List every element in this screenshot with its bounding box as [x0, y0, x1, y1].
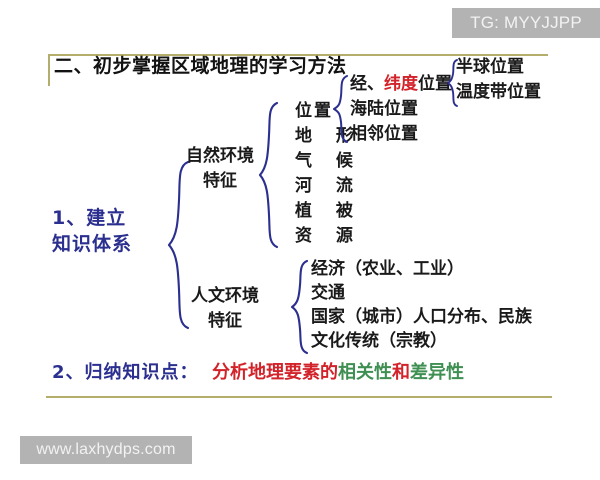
- summary-segment-1: 分析地理要素的: [212, 362, 338, 383]
- slide-canvas: 二、初步掌握区域地理的学习方法 1、建立 知识体系 自然环境 特征 位置 地 形…: [0, 0, 600, 480]
- summary-segment-4: 差异性: [410, 362, 464, 383]
- nature-label-line2: 特征: [203, 171, 237, 191]
- position-item-adjacent: 相邻位置: [350, 126, 418, 143]
- watermark-telegram: TG: MYYJJPP: [452, 8, 600, 38]
- human-item-economy: 经济（农业、工业）: [311, 261, 464, 278]
- summary-segment-3: 和: [392, 362, 410, 383]
- branch-2-label: 2、归纳知识点：: [52, 364, 199, 382]
- branch-1-label: 1、建立 知识体系: [52, 205, 132, 257]
- watermark-website: www.laxhydps.com: [20, 436, 192, 464]
- nature-item-vegetation: 植 被: [295, 203, 362, 220]
- hemisphere-item-temperature-zone: 温度带位置: [456, 84, 541, 101]
- nature-item-climate: 气 候: [295, 153, 362, 170]
- human-node-label: 人文环境 特征: [191, 284, 259, 334]
- nature-node-label: 自然环境 特征: [186, 144, 254, 194]
- position-item-prefix: 经、: [350, 74, 384, 94]
- position-brace: [332, 74, 350, 144]
- human-brace: [290, 259, 310, 356]
- human-label-line1: 人文环境: [191, 286, 259, 306]
- human-item-population: 国家（城市）人口分布、民族: [311, 309, 532, 326]
- summary-segment-2: 相关性: [338, 362, 392, 383]
- nature-brace: [258, 101, 280, 249]
- position-item-highlight: 纬度: [384, 74, 418, 94]
- branch-1-label-line1: 1、建立: [52, 207, 126, 229]
- branch-2-summary: 分析地理要素的相关性和差异性: [212, 364, 464, 382]
- nature-item-river: 河 流: [295, 178, 362, 195]
- nature-item-location: 位置: [295, 103, 333, 120]
- branch-1-label-line2: 知识体系: [52, 233, 132, 255]
- position-item-coordinates: 经、纬度位置: [350, 76, 452, 93]
- left-rule: [48, 54, 50, 86]
- nature-label-line1: 自然环境: [186, 146, 254, 166]
- bottom-rule: [46, 396, 552, 398]
- human-item-transport: 交通: [311, 285, 345, 302]
- nature-item-resource: 资 源: [295, 228, 362, 245]
- hemisphere-item-hemisphere: 半球位置: [456, 59, 524, 76]
- human-label-line2: 特征: [208, 311, 242, 331]
- human-item-culture: 文化传统（宗教）: [311, 333, 447, 350]
- page-title: 二、初步掌握区域地理的学习方法: [54, 57, 347, 76]
- position-item-land-sea: 海陆位置: [350, 101, 418, 118]
